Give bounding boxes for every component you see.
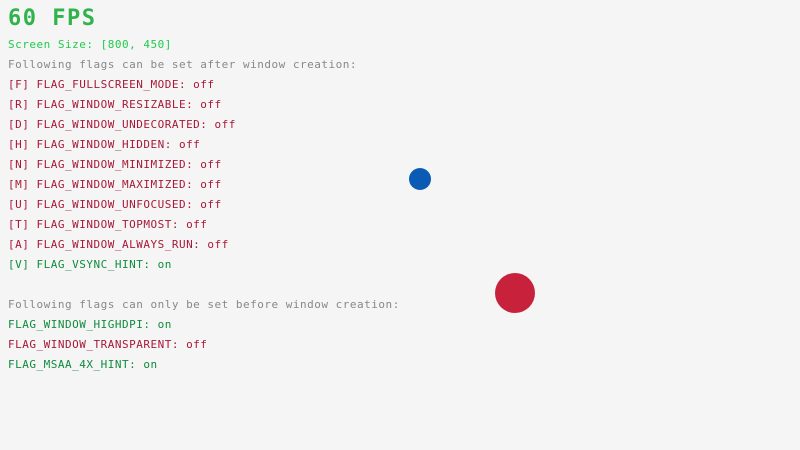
flag-row-window-minimized[interactable]: [N] FLAG_WINDOW_MINIMIZED: off [8, 159, 222, 170]
app-canvas: 60 FPS Screen Size: [800, 450] Following… [0, 0, 800, 450]
flag-row-msaa-4x-hint: FLAG_MSAA_4X_HINT: on [8, 359, 158, 370]
flag-row-window-maximized[interactable]: [M] FLAG_WINDOW_MAXIMIZED: off [8, 179, 222, 190]
section-heading-after-creation: Following flags can be set after window … [8, 59, 357, 70]
flag-row-vsync-hint[interactable]: [V] FLAG_VSYNC_HINT: on [8, 259, 172, 270]
flag-row-fullscreen-mode[interactable]: [F] FLAG_FULLSCREEN_MODE: off [8, 79, 215, 90]
flag-row-window-undecorated[interactable]: [D] FLAG_WINDOW_UNDECORATED: off [8, 119, 236, 130]
flag-row-window-topmost[interactable]: [T] FLAG_WINDOW_TOPMOST: off [8, 219, 207, 230]
flag-row-window-unfocused[interactable]: [U] FLAG_WINDOW_UNFOCUSED: off [8, 199, 222, 210]
section-heading-before-creation: Following flags can only be set before w… [8, 299, 400, 310]
flag-row-window-always-run[interactable]: [A] FLAG_WINDOW_ALWAYS_RUN: off [8, 239, 229, 250]
flag-row-window-resizable[interactable]: [R] FLAG_WINDOW_RESIZABLE: off [8, 99, 222, 110]
flag-row-window-highdpi: FLAG_WINDOW_HIGHDPI: on [8, 319, 172, 330]
screen-size-label: Screen Size: [800, 450] [8, 39, 172, 50]
fps-counter: 60 FPS [8, 8, 96, 30]
flag-row-window-hidden[interactable]: [H] FLAG_WINDOW_HIDDEN: off [8, 139, 200, 150]
blue-ball [409, 168, 431, 190]
flag-row-window-transparent: FLAG_WINDOW_TRANSPARENT: off [8, 339, 207, 350]
red-ball [495, 273, 535, 313]
